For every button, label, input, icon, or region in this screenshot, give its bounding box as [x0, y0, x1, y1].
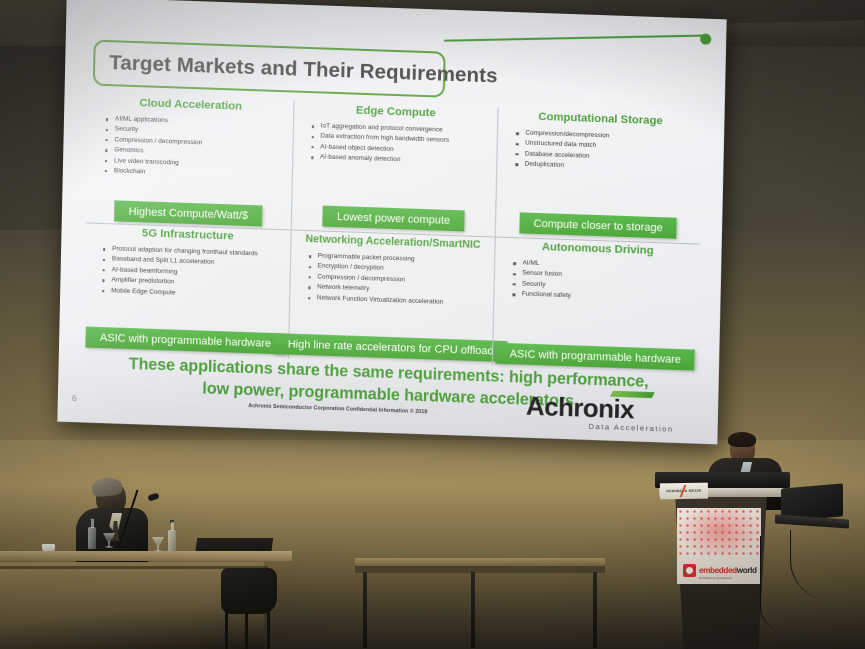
brand-subtitle: Exhibition & Conference — [699, 577, 757, 580]
side-table-leg — [363, 572, 367, 648]
grid-cell-5g-infrastructure: 5G Infrastructure Protocol adaption for … — [83, 222, 290, 358]
requirement-badge: ASIC with programmable hardware — [86, 327, 286, 355]
cell-heading: Edge Compute — [302, 103, 490, 121]
chair — [215, 568, 277, 649]
slide-title-box: Target Markets and Their Requirements — [93, 40, 446, 98]
embedded-world-mark-icon — [683, 564, 696, 577]
cable — [760, 536, 786, 632]
grid-cell-autonomous-driving: Autonomous Driving AI/ML Sensor fusion S… — [492, 237, 700, 373]
side-table-leg — [593, 572, 597, 648]
lectern-banner: embeddedworld Exhibition & Conference — [677, 508, 761, 584]
cell-bullet-list: AI/ML applications Security Compression … — [95, 114, 285, 183]
grid-cell-computational-storage: Computational Storage Compression/decomp… — [495, 108, 703, 244]
grid-cell-networking-acceleration: Networking Acceleration/SmartNIC Program… — [288, 230, 496, 366]
bottle-body — [88, 527, 96, 549]
cell-bullet-list: Protocol adaption for changing fronthaul… — [92, 244, 282, 302]
water-bottle — [168, 522, 176, 552]
title-accent-line — [444, 34, 709, 42]
chair-leg — [245, 609, 248, 649]
cell-heading: Computational Storage — [507, 110, 695, 128]
cell-bullet-list: IoT aggregation and protocol convergence… — [301, 121, 490, 169]
title-accent-dot-icon — [700, 33, 711, 44]
cell-heading: Networking Acceleration/SmartNIC — [299, 233, 487, 251]
achronix-logo: Achronix Data Acceleration — [526, 391, 677, 434]
grid-cell-cloud-acceleration: Cloud Acceleration AI/ML applications Se… — [86, 93, 293, 229]
cell-bullet-list: Programmable packet processing Encryptio… — [298, 251, 487, 309]
side-table — [355, 558, 605, 649]
requirement-badge: Lowest power compute — [323, 206, 465, 232]
cell-heading: Cloud Acceleration — [96, 96, 285, 115]
cell-bullet-list: Compression/decompression Unstructured d… — [506, 128, 695, 176]
side-table-leg — [471, 572, 475, 648]
page-title: Target Markets and Their Requirements — [109, 51, 498, 88]
head-table-top — [0, 551, 292, 561]
glass-foot — [105, 546, 113, 548]
presenter-hair — [728, 432, 756, 447]
embedded-world-logo: embeddedworld Exhibition & Conference — [683, 560, 759, 580]
side-table-apron — [355, 566, 605, 573]
chair-leg — [267, 609, 270, 649]
bottle-body — [168, 530, 176, 552]
brand-name-red: embedded — [699, 566, 737, 575]
drinking-glass — [103, 533, 115, 549]
requirement-badge: Compute closer to storage — [519, 212, 676, 238]
grid-cell-edge-compute: Edge Compute IoT aggregation and protoco… — [290, 101, 498, 237]
requirement-badge: ASIC with programmable hardware — [495, 343, 695, 371]
requirement-badge: High line rate accelerators for CPU offl… — [274, 333, 508, 362]
presentation-slide: Target Markets and Their Requirements Cl… — [57, 0, 726, 444]
conference-room-scene: Target Markets and Their Requirements Cl… — [0, 0, 865, 649]
embedded-world-text: embeddedworld Exhibition & Conference — [699, 561, 757, 580]
requirement-badge: Highest Compute/Watt/$ — [114, 200, 262, 226]
banner-glow — [677, 508, 761, 558]
chair-leg — [225, 609, 228, 649]
projection-screen: Target Markets and Their Requirements Cl… — [57, 0, 726, 444]
venue-sign: NÜRNBERG MESSE — [660, 483, 708, 500]
chair-seatback — [221, 568, 277, 614]
cell-bullet-list: AI/ML Sensor fusion Security Functional … — [503, 258, 692, 306]
water-bottle — [88, 519, 96, 549]
market-grid: Cloud Acceleration AI/ML applications Se… — [83, 93, 703, 372]
cell-heading: Autonomous Driving — [504, 240, 692, 258]
cell-heading: 5G Infrastructure — [93, 226, 282, 245]
brand-name-dark: world — [737, 566, 757, 575]
presenter-laptop — [775, 486, 847, 532]
